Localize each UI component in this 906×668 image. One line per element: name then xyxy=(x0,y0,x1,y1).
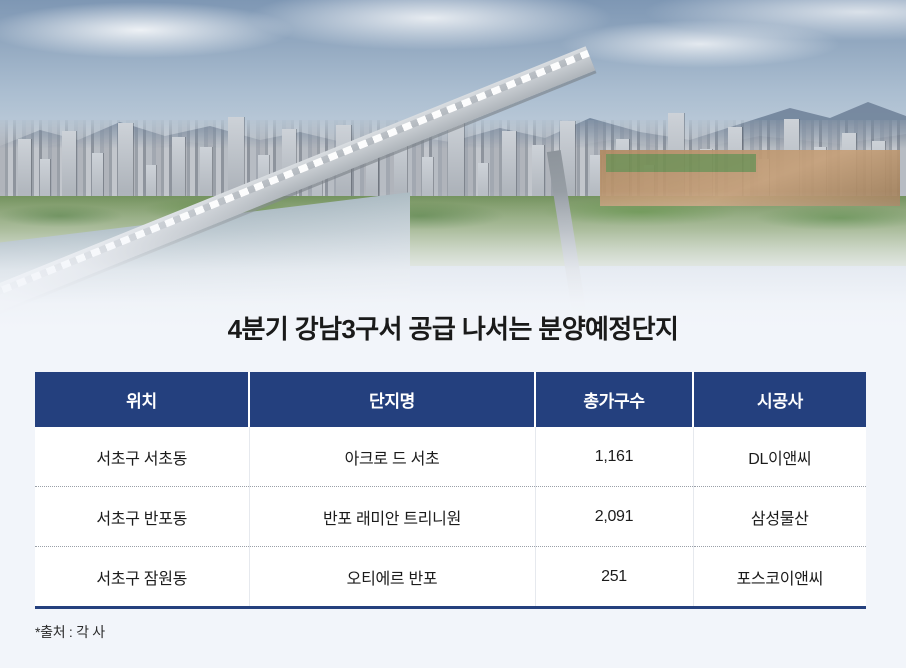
table-row: 서초구 반포동 반포 래미안 트리니원 2,091 삼성물산 xyxy=(35,487,866,547)
infographic-card: 4분기 강남3구서 공급 나서는 분양예정단지 위치 단지명 총가구수 시공사 … xyxy=(0,0,906,668)
page-title: 4분기 강남3구서 공급 나서는 분양예정단지 xyxy=(0,309,906,346)
photo-fade-overlay xyxy=(0,0,906,330)
column-header-builder: 시공사 xyxy=(693,372,866,427)
cell-complex: 오티에르 반포 xyxy=(249,547,535,607)
source-note: *출처 : 각 사 xyxy=(35,622,105,642)
cell-complex: 반포 래미안 트리니원 xyxy=(249,487,535,547)
column-header-units: 총가구수 xyxy=(535,372,693,427)
table-container: 위치 단지명 총가구수 시공사 서초구 서초동 아크로 드 서초 1,161 D… xyxy=(35,372,866,609)
column-header-location: 위치 xyxy=(35,372,249,427)
table-row: 서초구 서초동 아크로 드 서초 1,161 DL이앤씨 xyxy=(35,427,866,487)
cell-units: 251 xyxy=(535,547,693,607)
cell-location: 서초구 잠원동 xyxy=(35,547,249,607)
cell-location: 서초구 반포동 xyxy=(35,487,249,547)
banner-photo xyxy=(0,0,906,330)
supply-schedule-table: 위치 단지명 총가구수 시공사 서초구 서초동 아크로 드 서초 1,161 D… xyxy=(35,372,866,606)
cell-units: 1,161 xyxy=(535,427,693,487)
cell-location: 서초구 서초동 xyxy=(35,427,249,487)
cell-units: 2,091 xyxy=(535,487,693,547)
table-row: 서초구 잠원동 오티에르 반포 251 포스코이앤씨 xyxy=(35,547,866,607)
cell-builder: 포스코이앤씨 xyxy=(693,547,866,607)
cell-builder: DL이앤씨 xyxy=(693,427,866,487)
table-header-row: 위치 단지명 총가구수 시공사 xyxy=(35,372,866,427)
cell-builder: 삼성물산 xyxy=(693,487,866,547)
cell-complex: 아크로 드 서초 xyxy=(249,427,535,487)
column-header-complex: 단지명 xyxy=(249,372,535,427)
